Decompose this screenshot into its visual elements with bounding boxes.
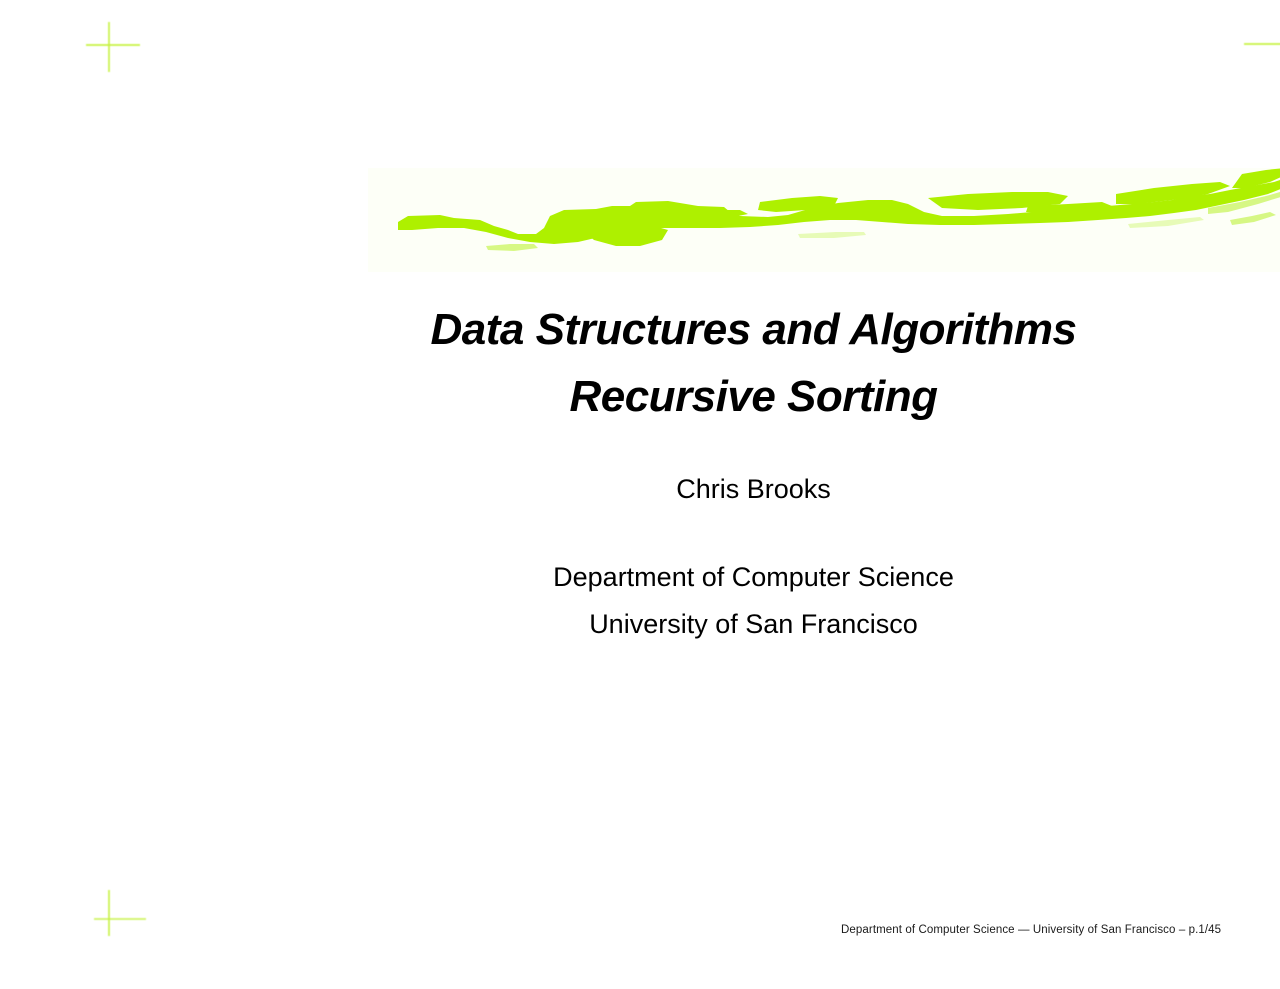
page-title: Data Structures and Algorithms <box>0 308 1280 352</box>
crop-mark-top-left-icon <box>86 22 146 74</box>
crop-mark-top-right-icon <box>1244 36 1280 52</box>
crop-mark-horizontal-bar <box>86 44 140 46</box>
crop-mark-horizontal-bar <box>94 918 146 920</box>
title-slide: Data Structures and Algorithms Recursive… <box>0 0 1280 989</box>
slide-footer: Department of Computer Science — Univers… <box>841 924 1221 936</box>
green-brush-stroke-icon <box>368 160 1280 280</box>
affiliation-department: Department of Computer Science <box>0 564 1280 591</box>
page-subtitle: Recursive Sorting <box>0 375 1280 419</box>
affiliation-institution: University of San Francisco <box>0 611 1280 638</box>
author-name: Chris Brooks <box>0 476 1280 503</box>
crop-mark-vertical-bar <box>108 22 110 72</box>
crop-mark-horizontal-bar <box>1244 43 1280 45</box>
crop-mark-vertical-bar <box>108 890 110 936</box>
crop-mark-bottom-left-icon <box>86 888 146 940</box>
